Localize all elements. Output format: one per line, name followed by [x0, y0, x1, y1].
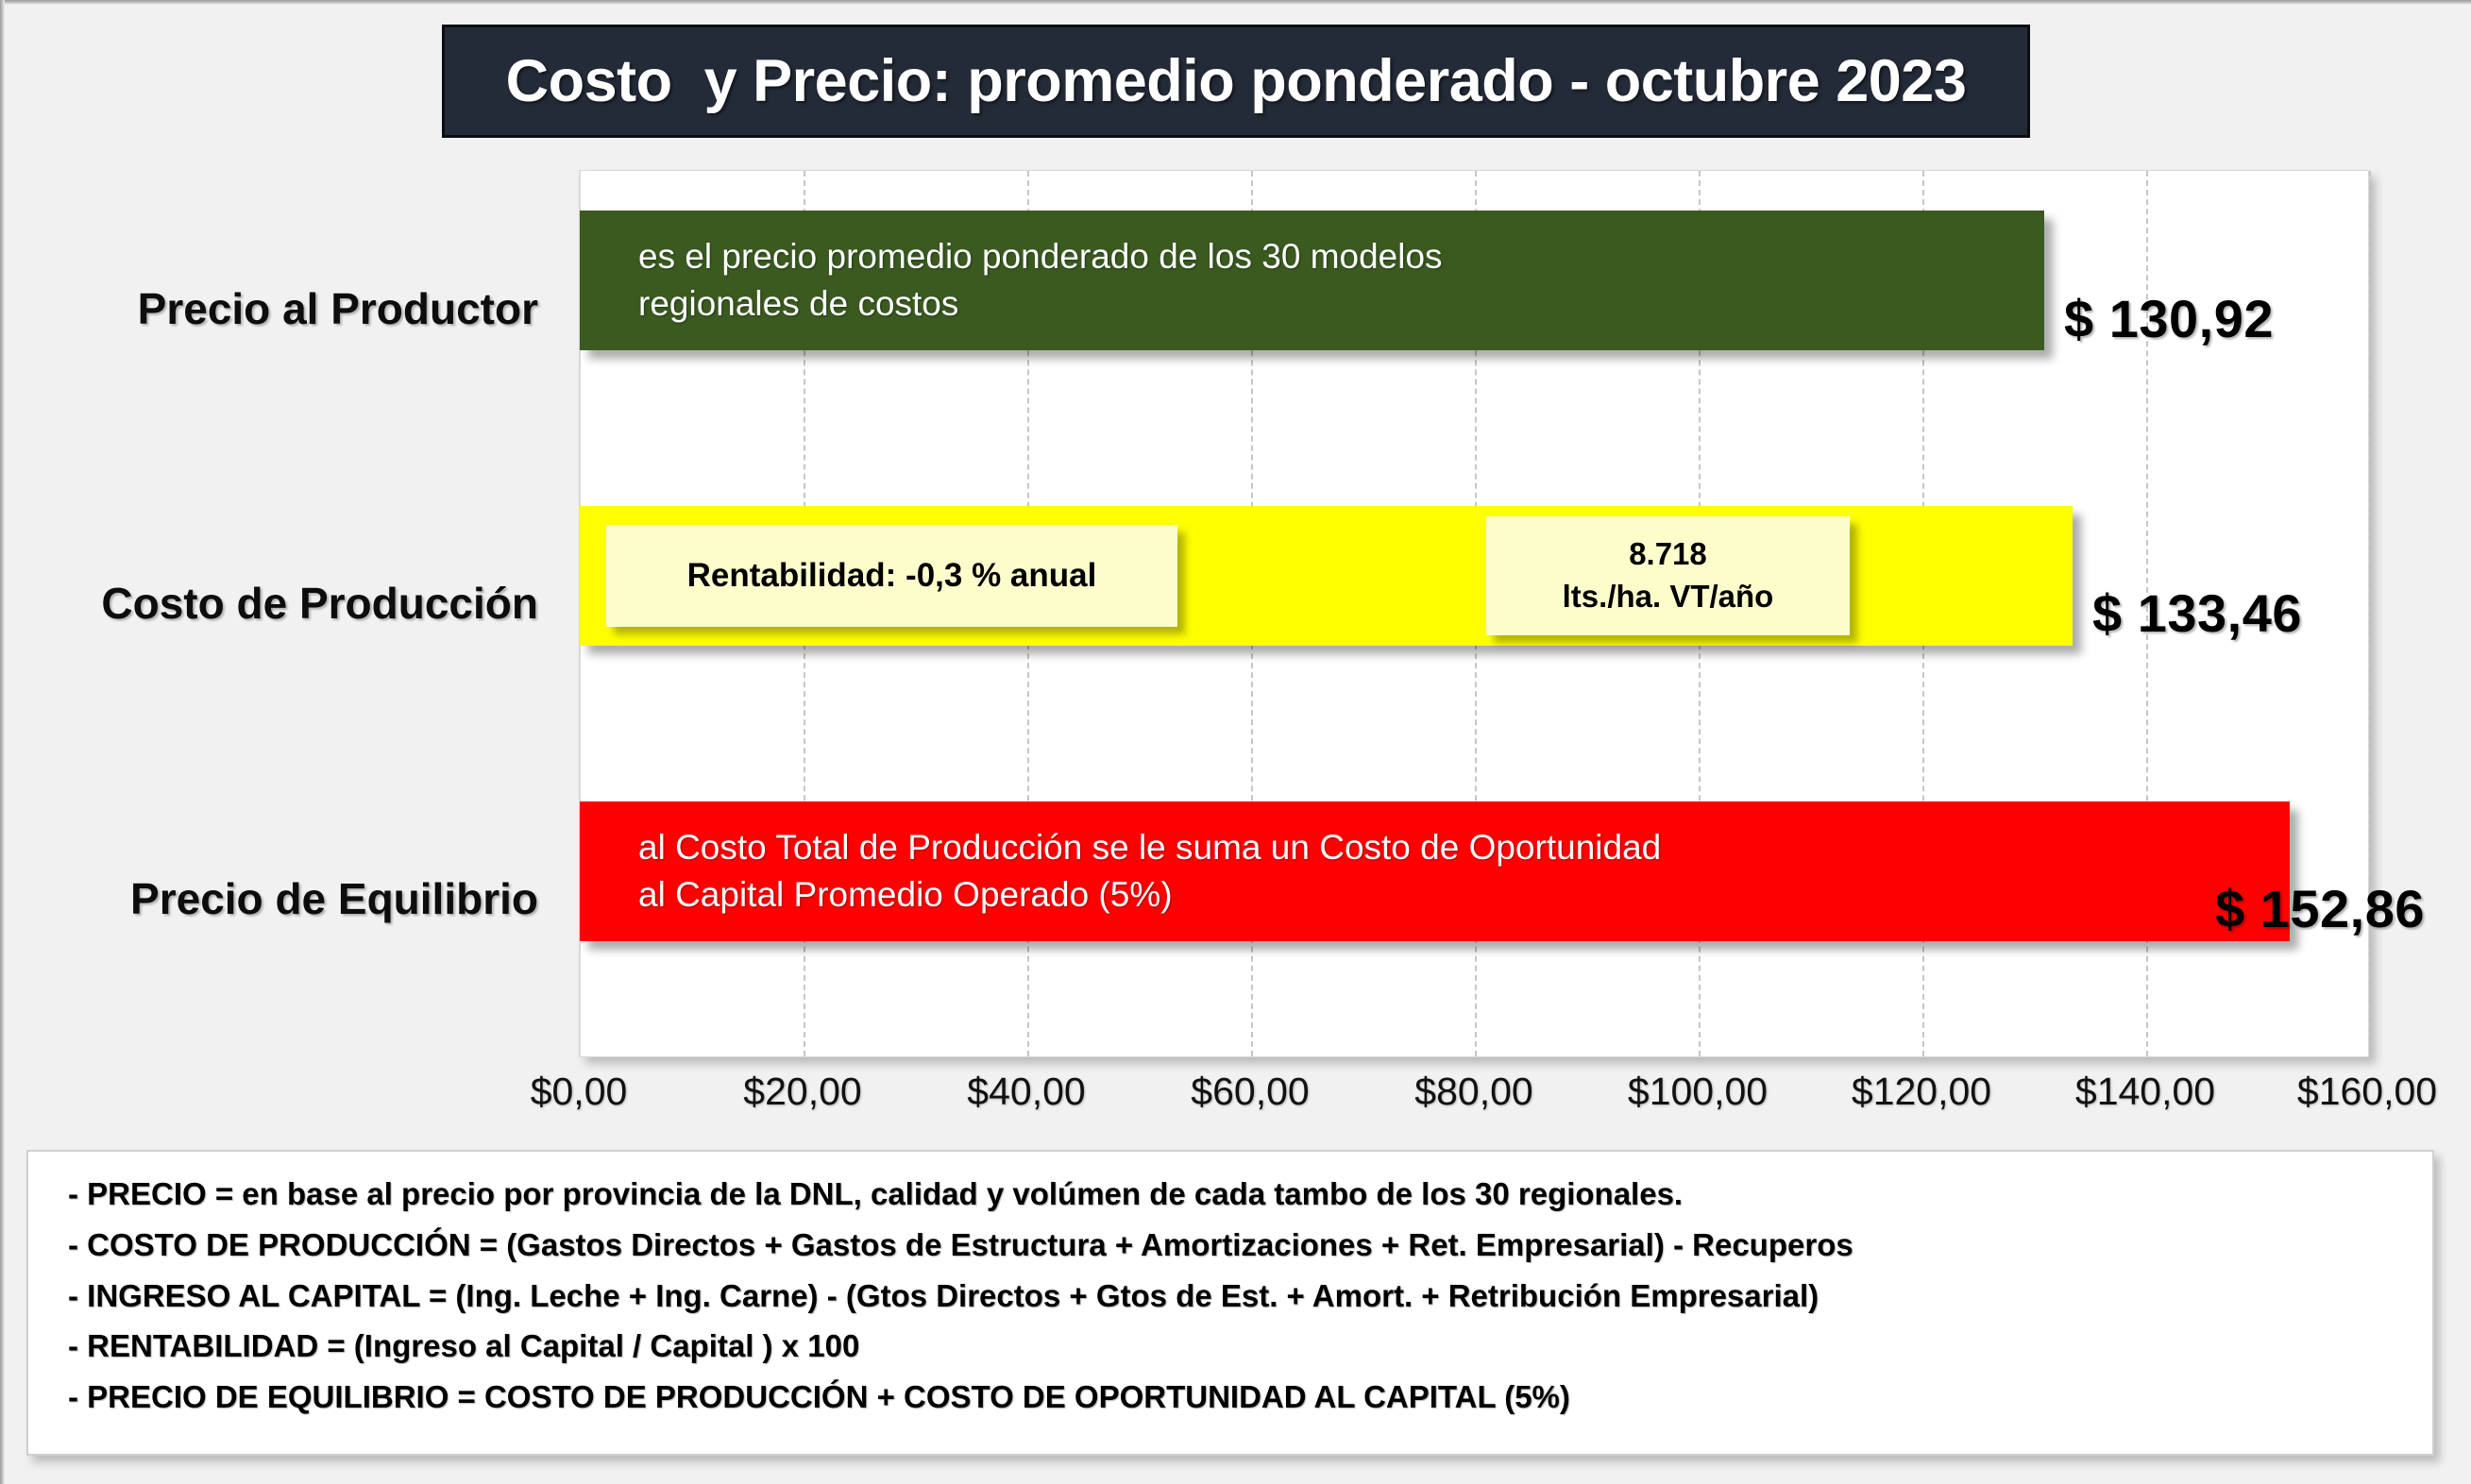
category-label-precio-al-productor: Precio al Productor	[0, 283, 538, 334]
bar-annotation-precio-al-productor: es el precio promedio ponderado de los 3…	[580, 233, 1443, 328]
footnote-line-1: - PRECIO = en base al precio por provinc…	[68, 1169, 2432, 1220]
xtick-160: $160,00	[2297, 1070, 2437, 1114]
footnote-line-5: - PRECIO DE EQUILIBRIO = COSTO DE PRODUC…	[68, 1372, 2432, 1423]
category-label-precio-de-equilibrio: Precio de Equilibrio	[0, 873, 538, 924]
callout-litros-ha-text: 8.718 lts./ha. VT/año	[1563, 533, 1774, 617]
xtick-20: $20,00	[743, 1070, 861, 1114]
chart-title-banner: Costo y Precio: promedio ponderado - oct…	[442, 25, 2030, 138]
bar-annotation-precio-de-equilibrio: al Costo Total de Producción se le suma …	[580, 824, 1661, 919]
xtick-40: $40,00	[967, 1070, 1085, 1114]
bar-precio-de-equilibrio[interactable]: al Costo Total de Producción se le suma …	[580, 801, 2290, 941]
value-label-costo-de-produccion: $ 133,46	[2092, 582, 2302, 644]
callout-rentabilidad: Rentabilidad: -0,3 % anual	[606, 525, 1177, 627]
xtick-0: $0,00	[531, 1070, 628, 1114]
xtick-100: $100,00	[1628, 1070, 1768, 1114]
category-label-costo-de-produccion: Costo de Producción	[0, 578, 538, 629]
value-label-precio-al-productor: $ 130,92	[2064, 288, 2274, 349]
value-label-precio-de-equilibrio: $ 152,86	[2215, 878, 2425, 939]
footnote-line-2: - COSTO DE PRODUCCIÓN = (Gastos Directos…	[68, 1220, 2432, 1271]
footnote-line-4: - RENTABILIDAD = (Ingreso al Capital / C…	[68, 1321, 2432, 1372]
slide-canvas: Costo y Precio: promedio ponderado - oct…	[0, 0, 2471, 1484]
callout-rentabilidad-text: Rentabilidad: -0,3 % anual	[687, 553, 1097, 598]
xtick-60: $60,00	[1191, 1070, 1309, 1114]
xtick-120: $120,00	[1852, 1070, 1991, 1114]
bar-precio-al-productor[interactable]: es el precio promedio ponderado de los 3…	[580, 211, 2044, 350]
footnote-line-3: - INGRESO AL CAPITAL = (Ing. Leche + Ing…	[68, 1271, 2432, 1322]
page-title: Costo y Precio: promedio ponderado - oct…	[506, 52, 1967, 111]
footnote-box: - PRECIO = en base al precio por provinc…	[26, 1150, 2434, 1456]
xtick-140: $140,00	[2075, 1070, 2215, 1114]
callout-litros-ha: 8.718 lts./ha. VT/año	[1486, 516, 1850, 635]
xtick-80: $80,00	[1414, 1070, 1532, 1114]
